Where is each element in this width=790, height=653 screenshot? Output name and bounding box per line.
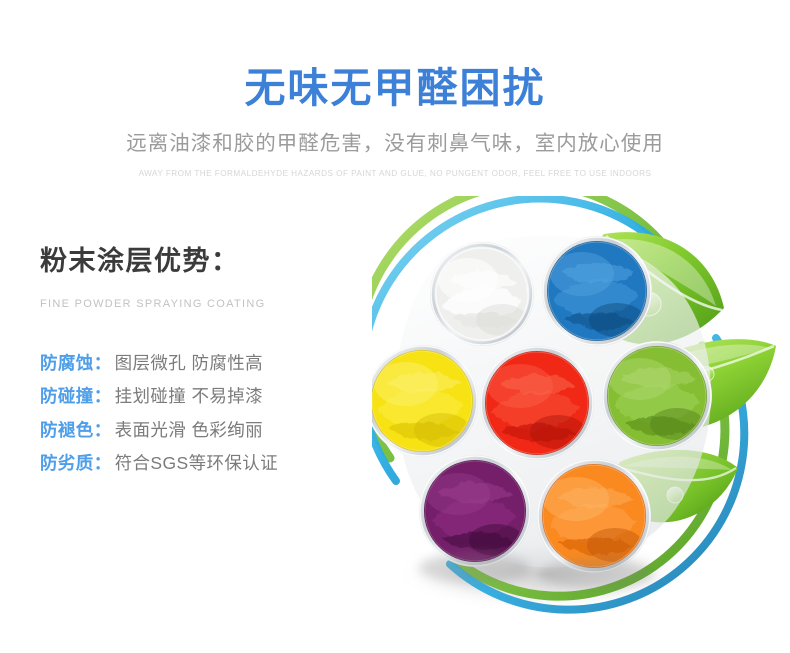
purple-powder-jar [419, 455, 531, 567]
advantages-block: 粉末涂层优势： FINE POWDER SPRAYING COATING 防腐蚀… [40, 245, 385, 489]
page-headline: 无味无甲醛困扰 [0, 0, 790, 112]
product-illustration [372, 196, 790, 616]
feature-description: 表面光滑 色彩绚丽 [112, 422, 263, 440]
list-item: 防碰撞： 挂划碰撞 不易掉漆 [40, 388, 385, 422]
header-block: 无味无甲醛困扰 远离油漆和胶的甲醛危害，没有刺鼻气味，室内放心使用 AWAY F… [0, 0, 790, 178]
feature-label: 防腐蚀： [40, 355, 112, 373]
jar-contact-shadow [419, 553, 531, 583]
list-item: 防劣质： 符合SGS等环保认证 [40, 455, 385, 489]
green-powder-jar [602, 341, 712, 451]
list-item: 防腐蚀： 图层微孔 防腐性高 [40, 355, 385, 389]
promo-page: 无味无甲醛困扰 远离油漆和胶的甲醛危害，没有刺鼻气味，室内放心使用 AWAY F… [0, 0, 790, 653]
feature-description: 挂划碰撞 不易掉漆 [112, 388, 263, 406]
advantages-title: 粉末涂层优势： [40, 245, 385, 279]
feature-label: 防碰撞： [40, 388, 112, 406]
feature-label: 防劣质： [40, 455, 112, 473]
feature-description: 图层微孔 防腐性高 [112, 355, 263, 373]
page-subheadline-english: AWAY FROM THE FORMALDEHYDE HAZARDS OF PA… [0, 157, 790, 179]
orange-powder-jar [537, 459, 651, 573]
white-powder-jar [430, 242, 534, 346]
page-subheadline: 远离油漆和胶的甲醛危害，没有刺鼻气味，室内放心使用 [0, 112, 790, 157]
advantages-title-english: FINE POWDER SPRAYING COATING [40, 279, 385, 311]
jar-contact-shadow [538, 559, 654, 589]
list-item: 防褪色： 表面光滑 色彩绚丽 [40, 422, 385, 456]
advantages-list: 防腐蚀： 图层微孔 防腐性高 防碰撞： 挂划碰撞 不易掉漆 防褪色： 表面光滑 … [40, 311, 385, 489]
blue-powder-jar [542, 236, 652, 346]
red-powder-jar [480, 346, 594, 460]
feature-description: 符合SGS等环保认证 [112, 455, 278, 473]
feature-label: 防褪色： [40, 422, 112, 440]
